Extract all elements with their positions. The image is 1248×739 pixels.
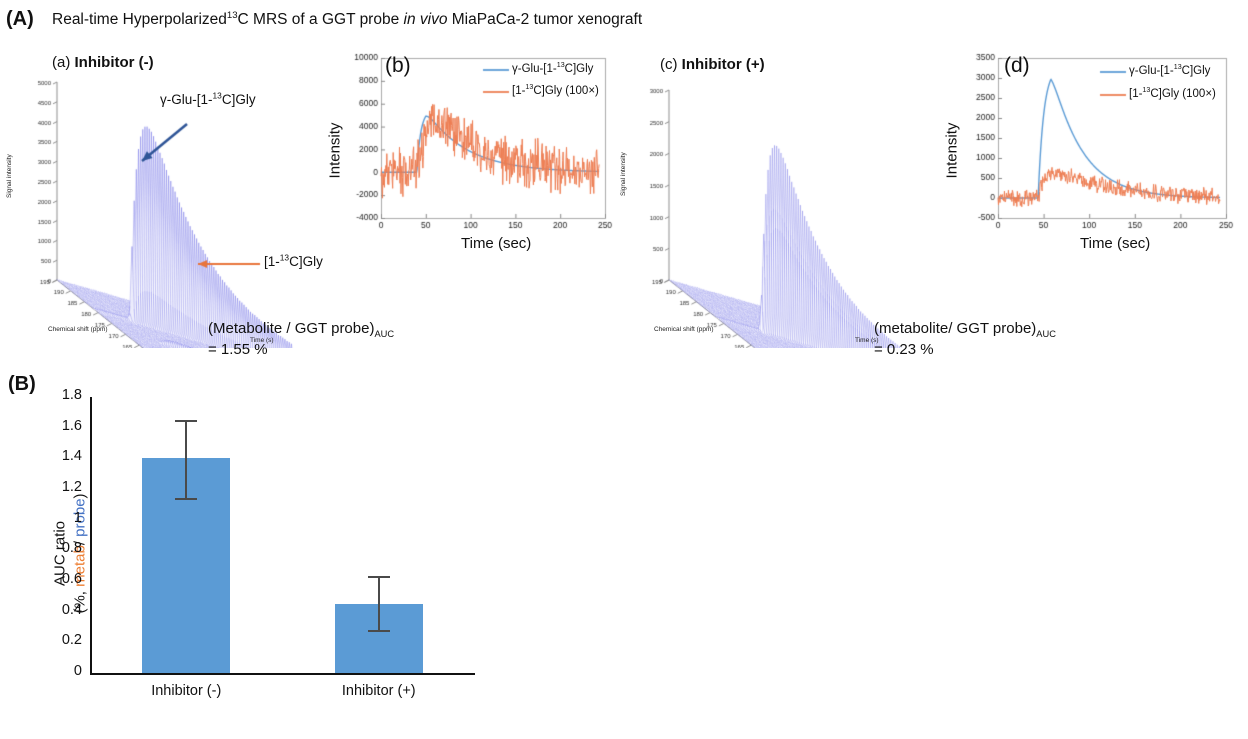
error-bar-stem-1 [185, 420, 187, 498]
annot-gly-post: C]Gly [289, 254, 323, 269]
bar-chart-y-tick: 1.6 [28, 418, 82, 434]
title-part-1: Real-time Hyperpolarized [52, 11, 227, 28]
panel-b-line-chart: (b) Intensity Time (sec) γ-Glu-[1-13C]Gl… [333, 42, 618, 257]
legend-label-post-1: C]Gly [565, 63, 594, 75]
bar-chart-y-tick: 1.4 [28, 448, 82, 464]
bar-chart-category-1: Inhibitor (-) [106, 683, 266, 699]
legend-item-1: γ-Glu-[1-13C]Gly [1129, 65, 1210, 77]
panel-a-z-axis-label: Signal intensity [6, 154, 13, 198]
panel-c-auc-label: (metabolite/ GGT probe) [874, 320, 1036, 337]
legend-label-sup-1: 13 [1174, 63, 1182, 71]
panel-d-line-chart: (d) Intensity Time (sec) γ-Glu-[1-13C]Gl… [948, 42, 1240, 257]
panel-a-auc-label: (Metabolite / GGT probe) [208, 320, 374, 337]
legend-item-2: [1-13C]Gly (100×) [512, 85, 599, 97]
legend-label-sup-1: 13 [557, 61, 565, 69]
error-bar-cap-2-upper [368, 576, 390, 578]
bar-chart-x-axis [90, 673, 475, 675]
bar-chart-y-tick: 0 [28, 663, 82, 679]
annotation-gly: [1-13C]Gly [264, 254, 323, 269]
bar-chart-y-tick: 1.2 [28, 479, 82, 495]
legend-item-1: γ-Glu-[1-13C]Gly [512, 63, 593, 75]
panel-a-x-axis-label: Chemical shift (ppm) [48, 326, 108, 333]
panel-c-z-axis-label: Signal intensity [620, 152, 627, 196]
panel-c-x-axis-label: Chemical shift (ppm) [654, 326, 714, 333]
title-sup-13: 13 [227, 10, 238, 21]
title-italic-invivo: in vivo [404, 11, 448, 28]
panel-c-auc-sub: AUC [1036, 329, 1056, 339]
panel-d-letter: (d) [1004, 54, 1030, 78]
panel-a-auc-value: = 1.55 % [208, 339, 394, 360]
title-part-2: C MRS of a GGT probe [238, 11, 404, 28]
panel-b-letter: (b) [385, 54, 411, 78]
panel-b-y-axis-label: Intensity [326, 123, 343, 179]
annot-glu-pre: γ-Glu-[1- [160, 92, 213, 107]
panel-a-auc-sub: AUC [374, 329, 394, 339]
annot-glu-post: C]Gly [222, 92, 256, 107]
panel-c-auc-value: = 0.23 % [874, 339, 1056, 360]
legend-label-post-1: C]Gly [1182, 65, 1211, 77]
annot-glu-sup: 13 [213, 91, 222, 101]
error-bar-cap-2-lower [368, 630, 390, 632]
annotation-gamma-glu-gly: γ-Glu-[1-13C]Gly [160, 92, 256, 107]
bar-chart-y-tick: 1.8 [28, 387, 82, 403]
legend-item-2: [1-13C]Gly (100×) [1129, 88, 1216, 100]
bar-chart-y-tick: 0.4 [28, 602, 82, 618]
bar-chart-category-2: Inhibitor (+) [299, 683, 459, 699]
legend-label-post-2: C]Gly (100×) [533, 85, 599, 97]
bar-chart-y-tick: 0.8 [28, 540, 82, 556]
error-bar-cap-1-lower [175, 498, 197, 500]
figure-title: Real-time Hyperpolarized13C MRS of a GGT… [52, 11, 642, 29]
panel-A-letter: (A) [6, 8, 34, 31]
bar-plot-area: 00.20.40.60.811.21.41.61.8Inhibitor (-)I… [0, 385, 520, 715]
annot-gly-pre: [1- [264, 254, 280, 269]
panel-d-y-axis-label: Intensity [943, 123, 960, 179]
legend-label-pre-2: [1- [1129, 88, 1142, 100]
panel-b-x-axis-label: Time (sec) [461, 235, 531, 252]
bar-chart-y-tick: 0.6 [28, 571, 82, 587]
annot-gly-sup: 13 [280, 253, 289, 263]
bar-chart-y-tick: 0.2 [28, 632, 82, 648]
legend-label-pre-1: γ-Glu-[1- [512, 63, 557, 75]
panel-c-3d-surface [612, 48, 957, 348]
bar-chart-y-axis [90, 397, 92, 673]
legend-label-pre-1: γ-Glu-[1- [1129, 65, 1174, 77]
legend-label-post-2: C]Gly (100×) [1150, 88, 1216, 100]
panel-a-waterfall: (a) Inhibitor (-) Signal intensity Chemi… [10, 48, 355, 348]
error-bar-stem-2 [378, 576, 380, 630]
panel-d-x-axis-label: Time (sec) [1080, 235, 1150, 252]
bar-chart-y-tick: 1 [28, 510, 82, 526]
panel-c-waterfall: (c) Inhibitor (+) Signal intensity Chemi… [612, 48, 957, 348]
error-bar-cap-1-upper [175, 420, 197, 422]
title-part-3: MiaPaCa-2 tumor xenograft [447, 11, 642, 28]
panel-B-bar-chart: AUC ratio (%, metab/ probe) 00.20.40.60.… [0, 385, 520, 715]
panel-a-auc-text: (Metabolite / GGT probe)AUC = 1.55 % [208, 318, 394, 360]
legend-label-pre-2: [1- [512, 85, 525, 97]
panel-c-auc-text: (metabolite/ GGT probe)AUC = 0.23 % [874, 318, 1056, 360]
